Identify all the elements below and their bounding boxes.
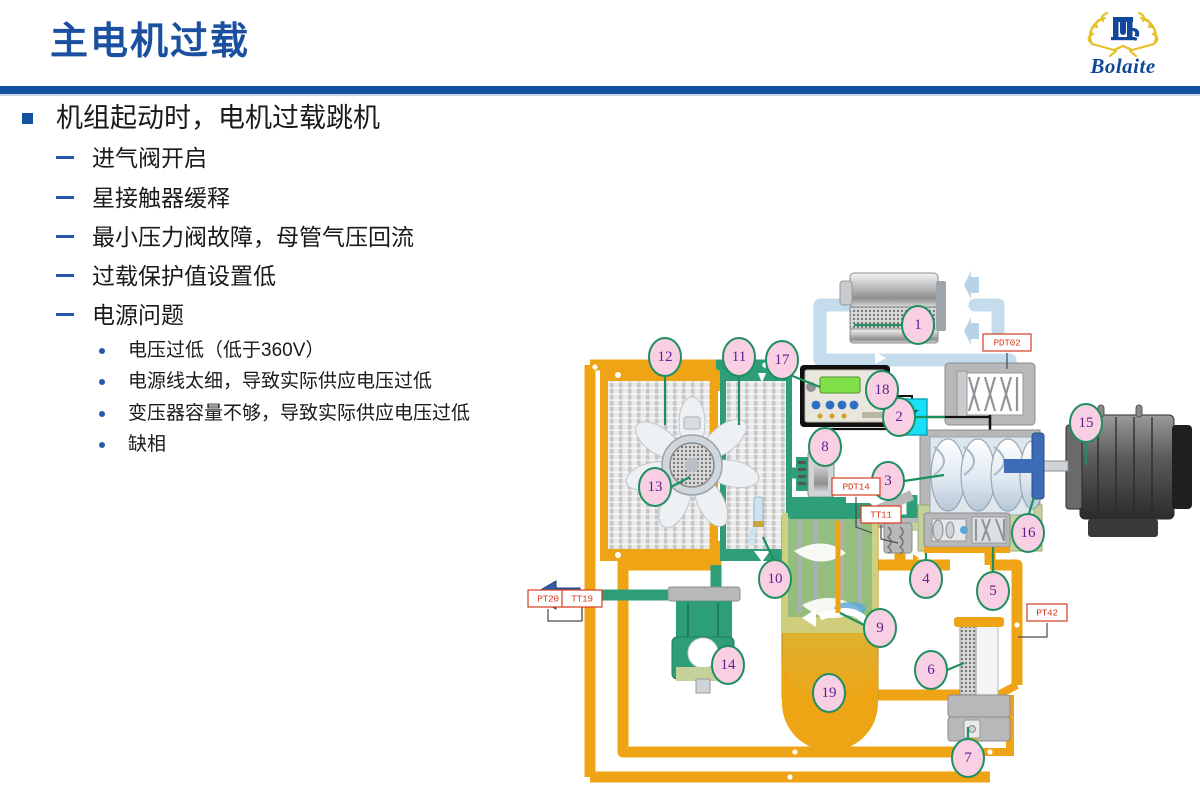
bullet-level3-text: 电压过低（低于360V） [128, 340, 324, 361]
callout-label: 6 [927, 662, 935, 678]
bullet-content: 机组起动时，电机过载跳机 进气阀开启 星接触器缓释 最小压力阀故障，母管气压回流… [0, 100, 560, 463]
sensor-tag-pdt02[interactable]: PDT02 [983, 334, 1031, 351]
callout-label: 11 [732, 349, 746, 365]
bolaite-logo: Bolaite [1058, 6, 1188, 84]
bullet-level3: 变压器容量不够，导致实际供应电压过低 [0, 401, 560, 426]
bullet-level2: 进气阀开启 [0, 142, 560, 174]
square-bullet-icon [22, 113, 33, 124]
dash-bullet-icon [56, 156, 74, 159]
dot-bullet-icon [99, 348, 105, 354]
callout-19[interactable]: 19 [813, 674, 845, 712]
bullet-level2-text: 电源问题 [92, 302, 184, 328]
bullet-level3: 电压过低（低于360V） [0, 338, 560, 363]
bullet-level2: 星接触器缓释 [0, 182, 560, 214]
callout-12[interactable]: 12 [649, 338, 681, 376]
callout-label: 3 [884, 473, 892, 489]
bullet-level2: 最小压力阀故障，母管气压回流 [0, 221, 560, 253]
main-motor [1042, 405, 1192, 537]
intake-valve [945, 363, 1035, 435]
bullet-level3-text: 变压器容量不够，导致实际供应电压过低 [128, 403, 470, 424]
callout-label: 2 [895, 409, 903, 425]
callout-9[interactable]: 9 [864, 609, 896, 647]
callout-label: 8 [821, 439, 829, 455]
dash-bullet-icon [56, 235, 74, 238]
bullet-level2: 过载保护值设置低 [0, 260, 560, 292]
callout-label: 10 [768, 571, 783, 587]
sensor-tag-label: PT20 [537, 594, 559, 605]
page-title: 主电机过载 [50, 22, 250, 64]
sensor-tag-pdt14[interactable]: PDT14 [832, 478, 880, 495]
logo-emblem-icon [1058, 6, 1188, 58]
callout-label: 15 [1079, 415, 1094, 431]
callout-label: 4 [922, 571, 930, 587]
bullet-level3: 电源线太细，导致实际供应电压过低 [0, 369, 560, 394]
bullet-level2-text: 进气阀开启 [92, 145, 207, 171]
bullet-level2-text: 过载保护值设置低 [92, 263, 276, 289]
callout-label: 17 [775, 352, 791, 368]
callout-5[interactable]: 5 [977, 572, 1009, 610]
callout-label: 9 [876, 620, 884, 636]
sensor-tag-label: PDT14 [842, 482, 870, 493]
sensor-tag-label: PDT02 [993, 338, 1021, 349]
bullet-level3: 缺相 [0, 432, 560, 457]
callout-label: 19 [822, 685, 837, 701]
callout-4[interactable]: 4 [910, 560, 942, 598]
sensor-tag-label: PT42 [1036, 608, 1058, 619]
bullet-level2-text: 最小压力阀故障，母管气压回流 [92, 224, 414, 250]
callout-label: 12 [658, 349, 673, 365]
sensor-tag-tt19[interactable]: TT19 [562, 590, 602, 607]
callout-1[interactable]: 1 [902, 306, 934, 344]
sensor-tag-label: TT11 [870, 510, 892, 521]
dash-bullet-icon [56, 274, 74, 277]
callout-6[interactable]: 6 [915, 651, 947, 689]
callout-14[interactable]: 14 [712, 646, 744, 684]
callout-label: 5 [989, 583, 997, 599]
bullet-level3-text: 缺相 [128, 434, 166, 455]
minimum-pressure-valve [924, 513, 1010, 553]
dot-bullet-icon [99, 442, 105, 448]
callout-label: 18 [875, 382, 890, 398]
dash-bullet-icon [56, 313, 74, 316]
callout-8[interactable]: 8 [809, 428, 841, 466]
sensor-tag-pt42[interactable]: PT42 [1027, 604, 1067, 621]
callout-17[interactable]: 17 [766, 341, 798, 379]
bullet-level1-text: 机组起动时，电机过载跳机 [56, 103, 380, 133]
logo-wordmark: Bolaite [1058, 54, 1188, 79]
compressor-flow-diagram: Y [520, 265, 1200, 810]
callout-10[interactable]: 10 [759, 560, 791, 598]
callout-label: 1 [914, 317, 922, 333]
callout-16[interactable]: 16 [1012, 514, 1044, 552]
callout-label: 13 [648, 479, 663, 495]
diagram-svg: Y [520, 265, 1200, 810]
sensor-tag-label: TT19 [571, 594, 593, 605]
title-divider-bar [0, 86, 1200, 94]
dot-bullet-icon [99, 411, 105, 417]
callout-label: 16 [1021, 525, 1037, 541]
callout-18[interactable]: 18 [866, 371, 898, 409]
title-divider-shadow [0, 94, 1200, 96]
callout-label: 14 [721, 657, 737, 673]
sensor-tag-tt11[interactable]: TT11 [861, 506, 901, 523]
callout-15[interactable]: 15 [1070, 404, 1102, 442]
dot-bullet-icon [99, 379, 105, 385]
callout-11[interactable]: 11 [723, 338, 755, 376]
bullet-level2: 电源问题 [0, 299, 560, 331]
callout-13[interactable]: 13 [639, 468, 671, 506]
slide-root: 主电机过载 [0, 0, 1200, 810]
bullet-level1: 机组起动时，电机过载跳机 [0, 100, 560, 136]
dash-bullet-icon [56, 196, 74, 199]
callout-7[interactable]: 7 [952, 739, 984, 777]
bullet-level3-text: 电源线太细，导致实际供应电压过低 [128, 371, 432, 392]
thermostatic-valve [948, 717, 1010, 746]
oil-filter [948, 617, 1010, 717]
callout-label: 7 [964, 750, 972, 766]
bullet-level2-text: 星接触器缓释 [92, 185, 230, 211]
